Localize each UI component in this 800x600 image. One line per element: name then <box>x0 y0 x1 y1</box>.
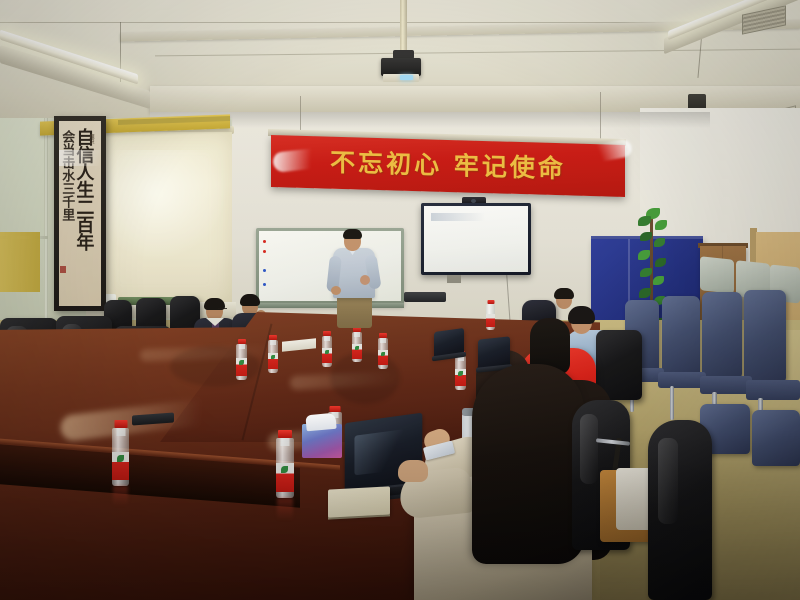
av-equipment <box>404 292 446 302</box>
scroll-glass-reflection <box>59 150 101 166</box>
attendee-suit-2-hair <box>240 294 260 306</box>
chair-blue[interactable] <box>662 296 700 376</box>
chair-leg <box>670 386 674 420</box>
calligraphy-inscription: 题识 <box>88 134 94 144</box>
calligraphy-second-column: 会当击水三千里 <box>60 130 73 221</box>
attendee-back-hair <box>554 288 574 299</box>
calligraphy-main-column: 自信人生二百年 <box>74 128 92 251</box>
display-bracket <box>447 275 461 283</box>
water-bottle[interactable] <box>486 304 495 330</box>
water-bottle[interactable] <box>268 340 278 373</box>
yellow-wall-panel <box>0 232 40 292</box>
whiteboard-magnet-blue-1[interactable] <box>263 269 266 272</box>
chair-blue-seat[interactable] <box>658 372 706 388</box>
whiteboard-magnet-red-2[interactable] <box>263 250 266 253</box>
calligraphy-seal <box>60 266 66 273</box>
chair-headrest[interactable] <box>700 256 734 294</box>
chair-blue-seat[interactable] <box>746 380 800 400</box>
chair-blue-seat[interactable] <box>700 376 752 394</box>
conference-room-photo: 会当击水三千里 自信人生二百年 题识 不忘初心 牢记使命 <box>0 0 800 600</box>
floor-shadow <box>0 430 800 600</box>
banner-string-right <box>600 92 601 140</box>
tissue-sheet[interactable] <box>305 413 336 432</box>
presenter-glasses <box>345 238 360 242</box>
wall-shadow <box>150 112 710 128</box>
window-glass-left <box>0 118 46 328</box>
whiteboard-magnet-blue-2[interactable] <box>263 283 266 286</box>
attendee-blue-shirt-hair <box>568 306 595 324</box>
water-bottle[interactable] <box>455 356 466 390</box>
attendee-suit-1-glasses <box>218 308 227 312</box>
presenter-hand-right <box>360 275 370 285</box>
water-bottle[interactable] <box>322 336 332 367</box>
presenter-trousers <box>337 294 372 328</box>
chair-blue[interactable] <box>702 292 742 378</box>
presenter-hand-left <box>331 286 341 295</box>
window-mullion-1 <box>44 118 48 330</box>
window-daylight-glow <box>100 150 226 260</box>
display-screen-content <box>431 213 485 221</box>
calligraphy-scroll: 会当击水三千里 自信人生二百年 题识 <box>54 116 106 311</box>
water-bottle[interactable] <box>378 338 388 369</box>
whiteboard-marker-tray <box>256 303 404 308</box>
table-person-reflection <box>330 352 400 404</box>
banner-slogan-text: 不忘初心 牢记使命 <box>271 141 625 187</box>
projector-mount-pole <box>400 0 407 52</box>
wall-mounted-display[interactable] <box>421 203 531 275</box>
chair-blue[interactable] <box>744 290 786 382</box>
water-bottle[interactable] <box>236 344 247 380</box>
red-slogan-banner: 不忘初心 牢记使命 <box>271 135 625 197</box>
whiteboard-magnet-red-1[interactable] <box>263 240 266 243</box>
water-bottle[interactable] <box>352 332 362 362</box>
projector-lens <box>400 75 413 80</box>
